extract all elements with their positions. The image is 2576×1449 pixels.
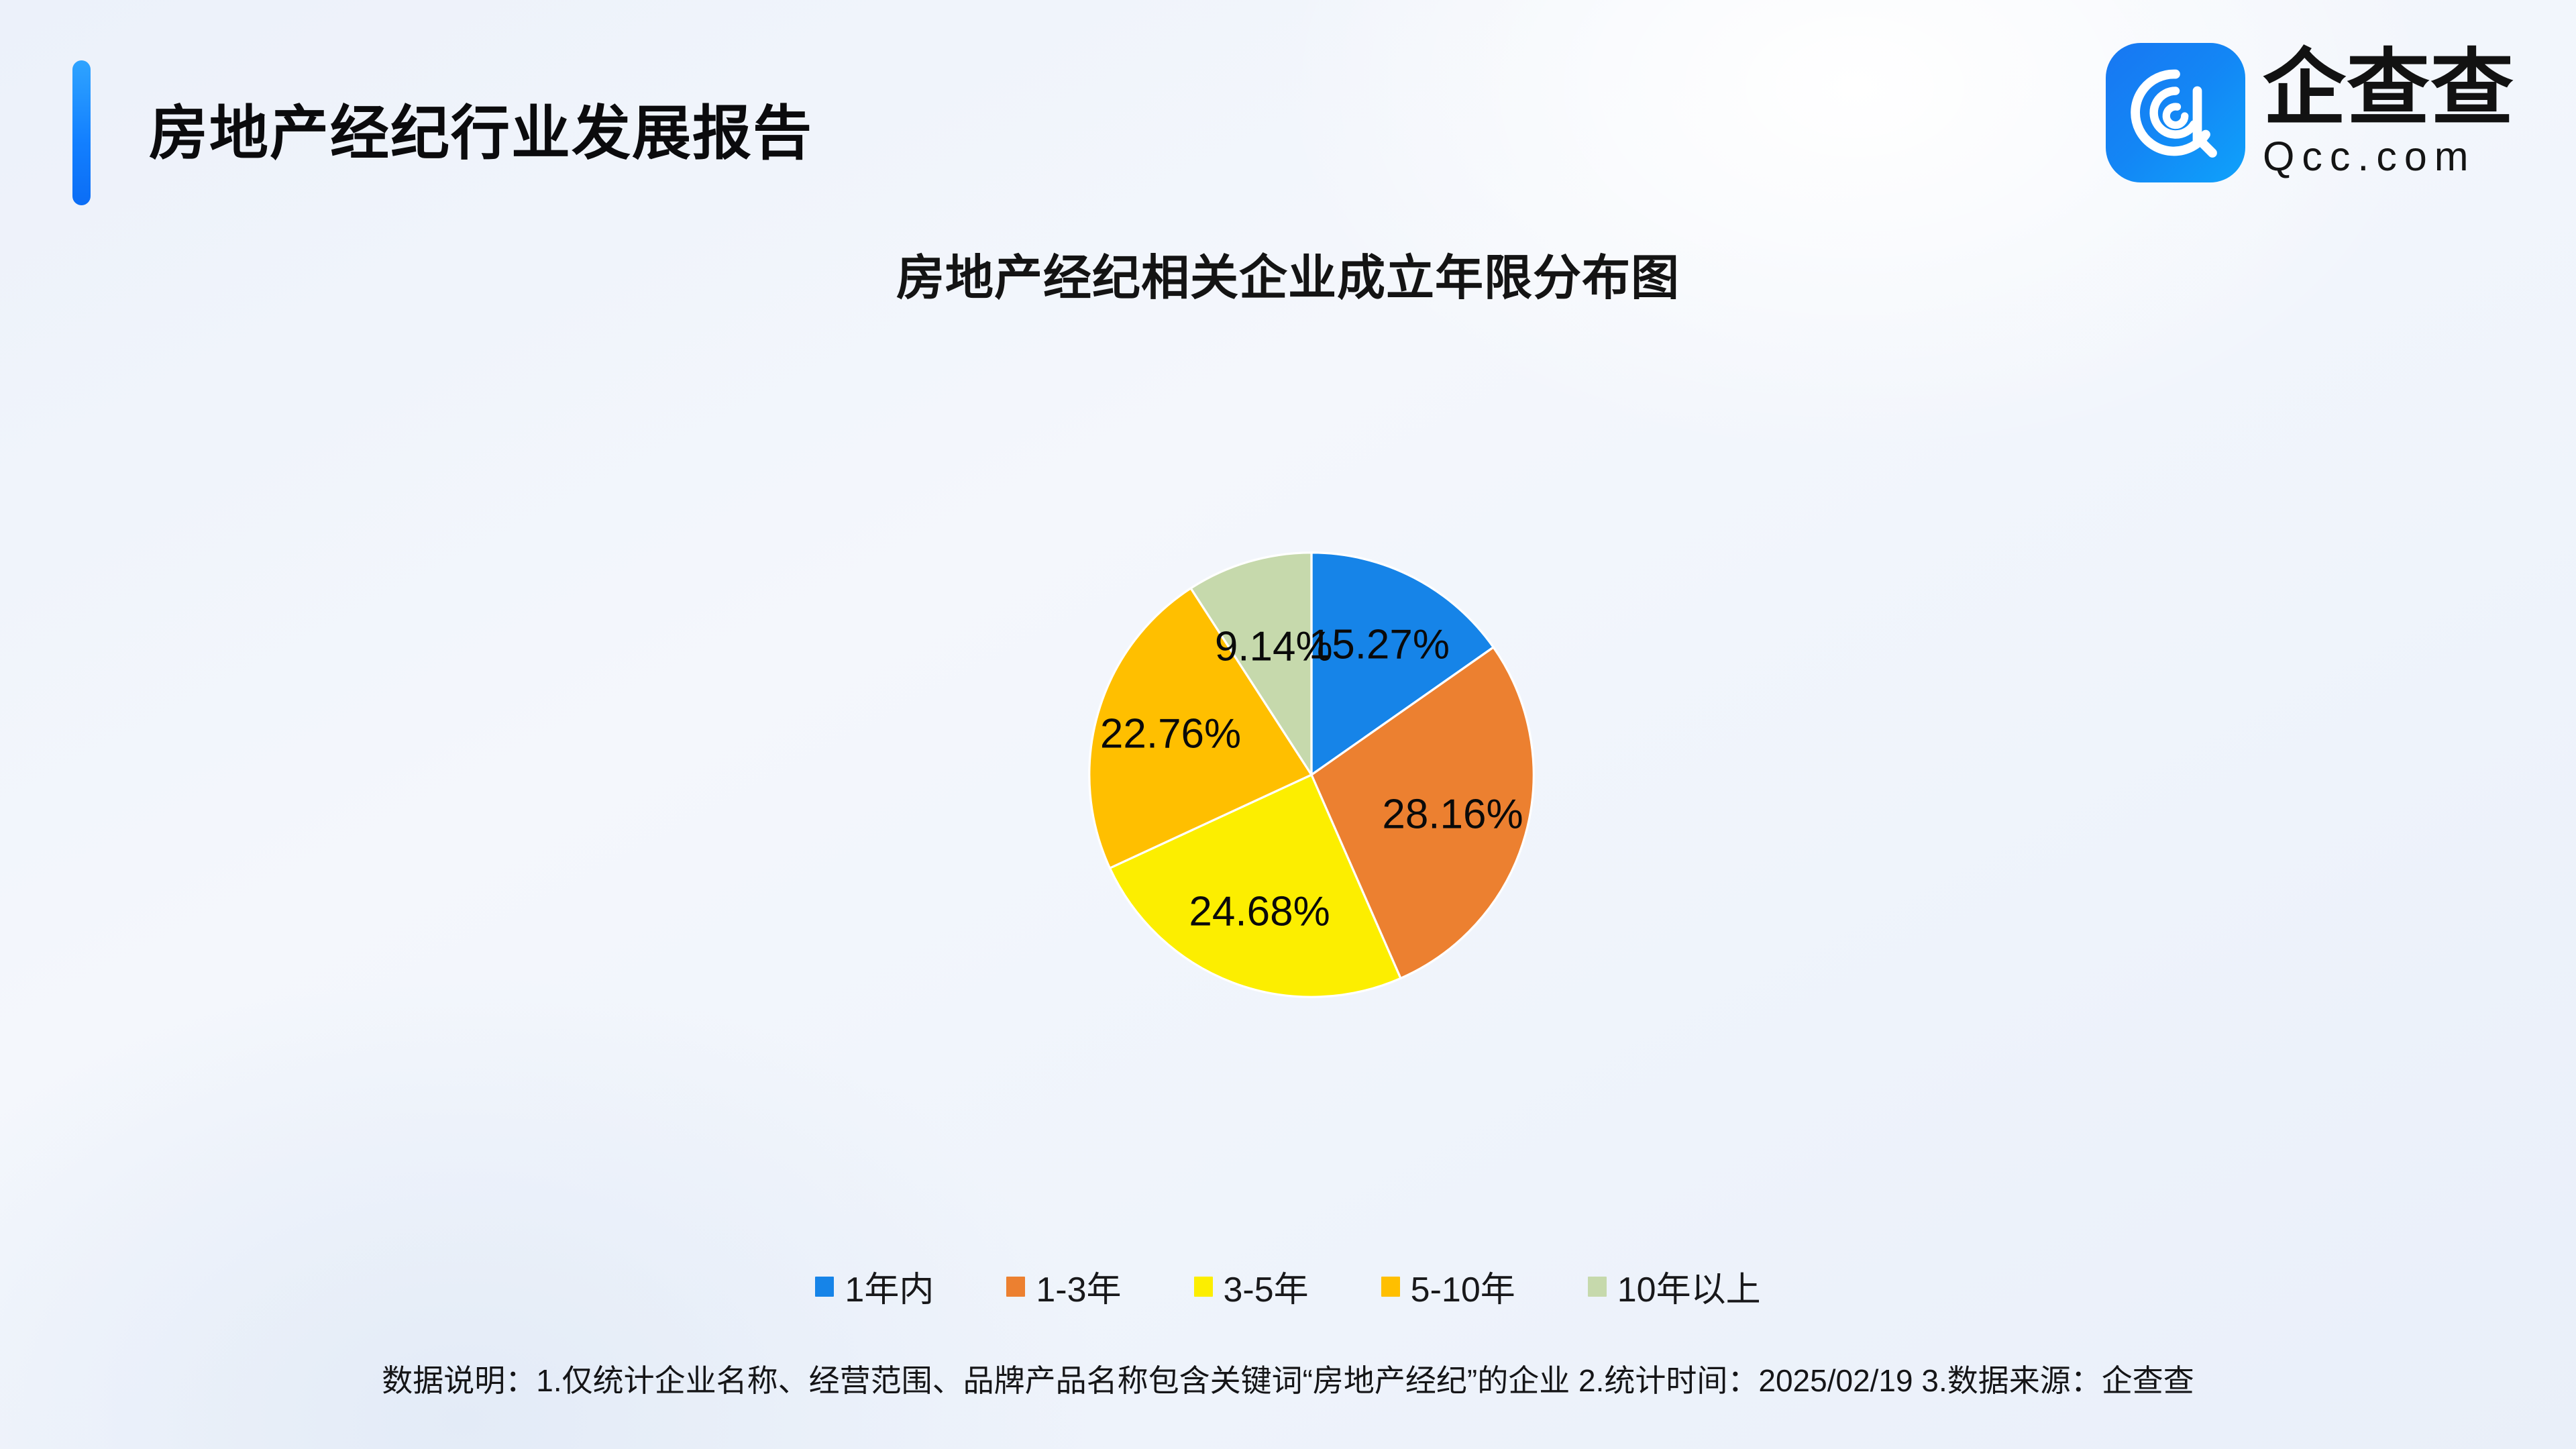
qcc-logo-icon <box>2106 43 2245 182</box>
legend-swatch-icon <box>1588 1277 1607 1297</box>
legend-swatch-icon <box>1194 1277 1213 1297</box>
logo-company-name: 企查查 <box>2263 46 2514 132</box>
legend-item[interactable]: 10年以上 <box>1588 1261 1761 1311</box>
legend-label: 1年内 <box>845 1261 934 1311</box>
logo-domain: Qcc.com <box>2263 135 2514 179</box>
data-source-note: 数据说明：1.仅统计企业名称、经营范围、品牌产品名称包含关键词“房地产经纪”的企… <box>0 1356 2576 1401</box>
pie-slice-label: 22.76% <box>1100 710 1241 758</box>
legend-swatch-icon <box>815 1277 834 1297</box>
legend-swatch-icon <box>1381 1277 1400 1297</box>
legend-item[interactable]: 3-5年 <box>1194 1261 1309 1311</box>
legend-label: 10年以上 <box>1617 1261 1761 1311</box>
title-accent-bar <box>72 60 91 205</box>
pie-slice-label: 24.68% <box>1189 888 1330 936</box>
legend-swatch-icon <box>1006 1277 1025 1297</box>
legend-label: 1-3年 <box>1036 1261 1121 1311</box>
brand-logo: 企查查 Qcc.com <box>2106 40 2514 185</box>
chart-legend: 1年内1-3年3-5年5-10年10年以上 <box>0 1261 2576 1311</box>
legend-item[interactable]: 1-3年 <box>1006 1261 1121 1311</box>
pie-chart-svg <box>1070 533 1553 1016</box>
report-card: 房地产经纪行业发展报告 企查查 Qcc.com 房地产经纪相关企业成立年限分布图 <box>0 0 2576 1449</box>
legend-label: 5-10年 <box>1411 1261 1515 1311</box>
logo-wordmark: 企查查 Qcc.com <box>2263 46 2514 179</box>
legend-item[interactable]: 1年内 <box>815 1261 934 1311</box>
legend-item[interactable]: 5-10年 <box>1381 1261 1515 1311</box>
pie-slice-label: 28.16% <box>1382 790 1523 838</box>
chart-title: 房地产经纪相关企业成立年限分布图 <box>0 238 2576 309</box>
legend-label: 3-5年 <box>1224 1261 1309 1311</box>
pie-slice-label: 9.14% <box>1215 623 1333 671</box>
page-title: 房地产经纪行业发展报告 <box>149 70 813 197</box>
